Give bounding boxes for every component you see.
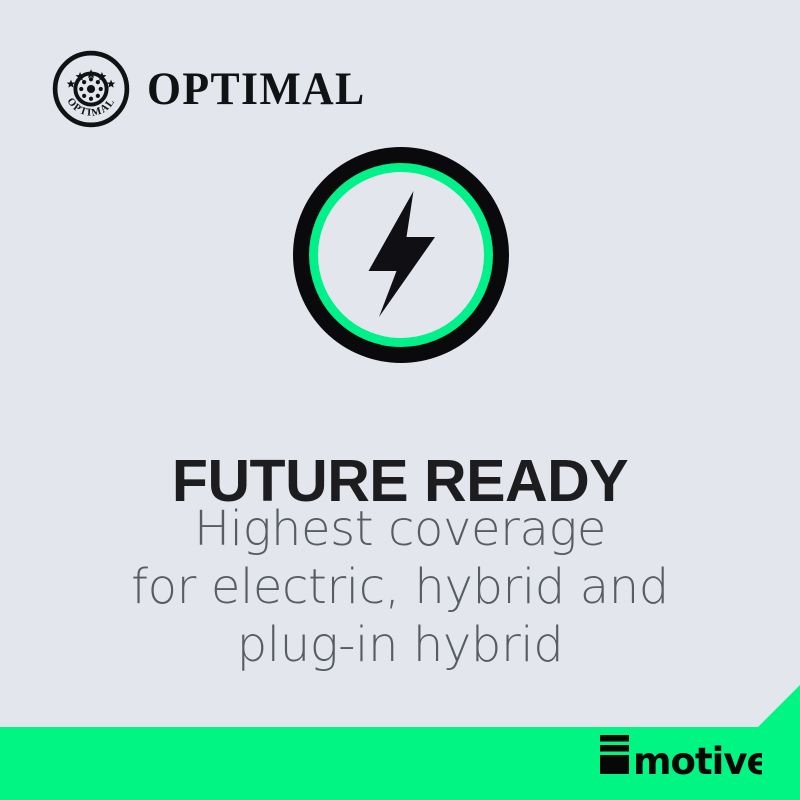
optimal-seal-icon: OPTIMAL — [52, 50, 130, 128]
svg-text:motive: motive — [633, 740, 762, 778]
brand-header: OPTIMAL OPTIMAL — [52, 50, 382, 128]
subheadline-line-2: for electric, hybrid and — [0, 558, 800, 616]
lightning-bolt-in-circle-icon — [290, 144, 512, 366]
subheadline: Highest coverage for electric, hybrid an… — [0, 500, 800, 674]
subheadline-line-1: Highest coverage — [0, 500, 800, 558]
subheadline-line-3: plug-in hybrid — [0, 616, 800, 674]
emotive-wordmark-icon: motive — [597, 732, 762, 778]
footer-banner: motive — [0, 682, 800, 800]
promo-card: OPTIMAL OPTIMAL FUTURE READY Highest cov… — [0, 0, 800, 800]
brand-wordmark: OPTIMAL — [147, 66, 366, 113]
